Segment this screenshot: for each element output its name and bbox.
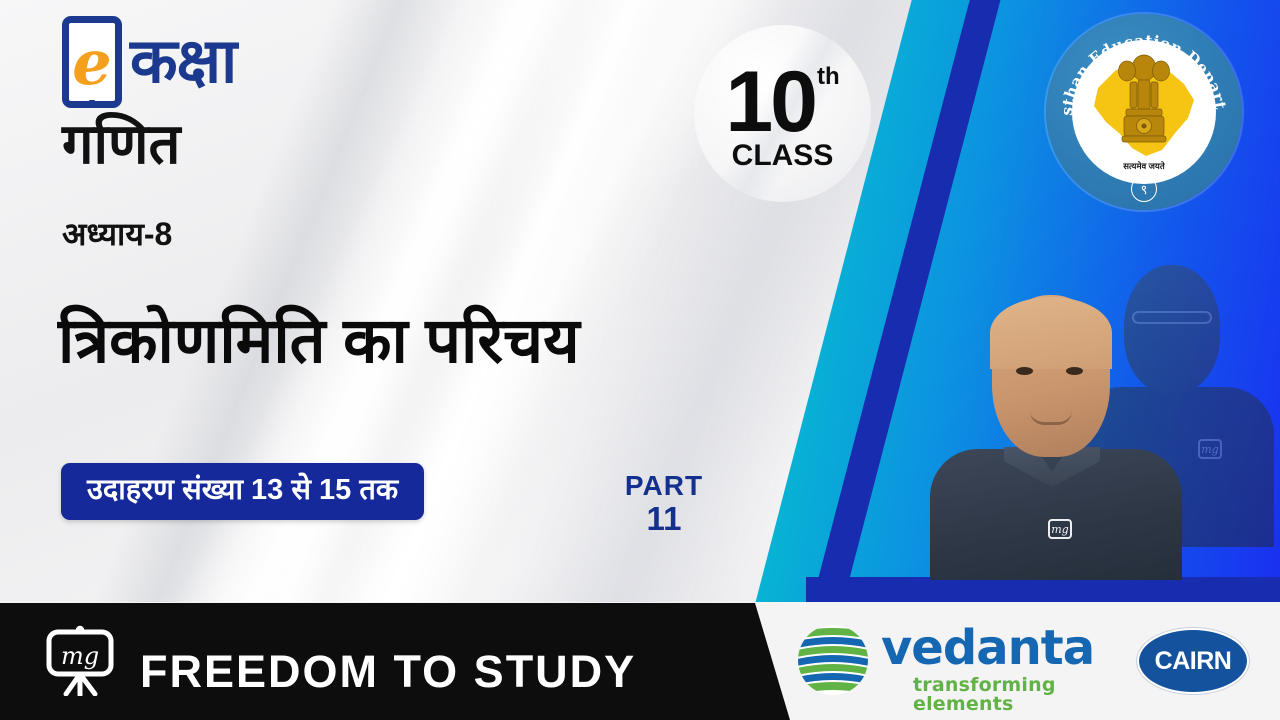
topic-title: त्रिकोणमिति का परिचय — [58, 305, 580, 377]
brand-letter-e: e — [72, 32, 111, 94]
example-range-badge: उदाहरण संख्या 13 से 15 तक — [61, 463, 424, 520]
instructor-front-eye-left — [1016, 367, 1033, 375]
seal-bottom-glyph: ९ — [1131, 176, 1157, 202]
brand-word: कक्षा — [130, 31, 236, 93]
subject-title: गणित — [62, 116, 180, 172]
cairn-logo: CAIRN — [1139, 630, 1247, 692]
seal-inner-disc: सत्यमेव जयते — [1072, 40, 1216, 184]
seal-motto: सत्यमेव जयते — [1072, 161, 1216, 172]
rajasthan-education-department-seal: Rajasthan Education Department — [1046, 14, 1242, 210]
class-ordinal-suffix: th — [817, 65, 840, 89]
mobile-phone-icon: e — [62, 16, 122, 108]
class-badge: 10 th CLASS — [694, 25, 871, 202]
vedanta-globe-icon — [795, 622, 871, 698]
thumbnail-canvas: mg mg 10 th CLASS Raja — [0, 0, 1280, 720]
instructor-photos: mg mg — [930, 243, 1280, 580]
instructor-back-shirt-logo: mg — [1198, 439, 1222, 459]
part-label: PART — [614, 470, 714, 501]
instructor-front-eye-right — [1066, 367, 1083, 375]
class-number: 10 — [725, 59, 815, 145]
part-number: 11 — [614, 501, 714, 538]
footer-tagline: FREEDOM TO STUDY — [140, 649, 636, 694]
vedanta-tagline: transforming elements — [913, 676, 1125, 714]
chapter-label: अध्याय-8 — [62, 218, 172, 250]
part-indicator: PART 11 — [614, 470, 714, 538]
mg-easel-icon: mg — [40, 624, 120, 696]
vedanta-logo: vedanta transforming elements — [795, 614, 1125, 706]
instructor-front-figure: mg — [930, 271, 1188, 580]
footer-strip: mg FREEDOM TO STUDY vedanta transforming… — [0, 602, 1280, 720]
svg-text:mg: mg — [61, 642, 99, 670]
cairn-wordmark: CAIRN — [1155, 647, 1232, 676]
ekaksha-brand-logo: e कक्षा — [62, 16, 236, 108]
instructor-front-hair — [990, 297, 1112, 369]
vedanta-wordmark: vedanta — [881, 624, 1094, 672]
ashoka-lion-capital-icon — [1116, 52, 1172, 156]
class-number-row: 10 th — [725, 59, 839, 145]
instructor-front-shirt-logo: mg — [1048, 519, 1072, 539]
class-word-label: CLASS — [732, 139, 834, 173]
